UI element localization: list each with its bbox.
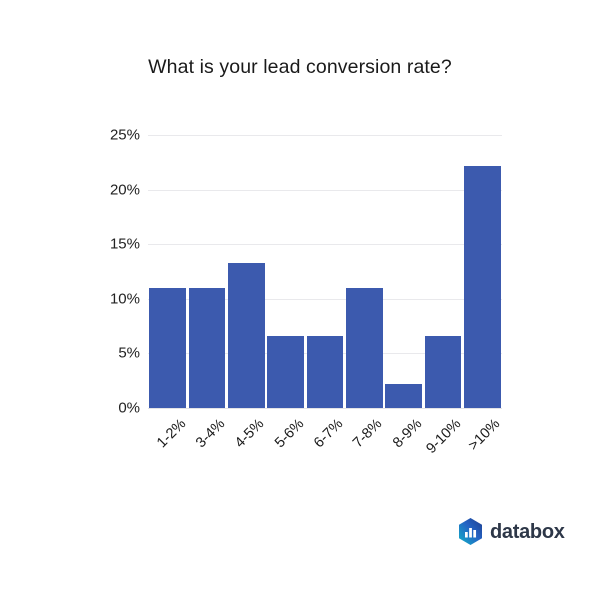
bar[interactable] bbox=[189, 288, 226, 408]
databox-wordmark: databox bbox=[490, 522, 565, 542]
plot-area bbox=[148, 135, 502, 408]
y-axis-tick-label: 15% bbox=[88, 236, 140, 253]
x-axis-tick-label: >10% bbox=[466, 416, 504, 454]
y-axis-tick-label: 20% bbox=[88, 181, 140, 198]
bar[interactable] bbox=[346, 288, 383, 408]
gridline bbox=[148, 408, 502, 409]
y-axis: 0%5%10%15%20%25% bbox=[88, 135, 140, 408]
bar[interactable] bbox=[149, 288, 186, 408]
x-axis-tick-label: 9-10% bbox=[423, 416, 464, 457]
bar-series bbox=[148, 135, 502, 408]
y-axis-tick-label: 25% bbox=[88, 127, 140, 144]
x-axis-tick-label: 5-6% bbox=[272, 416, 307, 451]
chart-container: What is your lead conversion rate? 0%5%1… bbox=[0, 0, 600, 600]
y-axis-tick-label: 10% bbox=[88, 290, 140, 307]
y-axis-tick-label: 5% bbox=[88, 345, 140, 362]
x-axis-tick-label: 7-8% bbox=[350, 416, 385, 451]
x-axis-tick-label: 3-4% bbox=[193, 416, 228, 451]
bar[interactable] bbox=[425, 336, 462, 408]
x-axis-tick-label: 8-9% bbox=[390, 416, 425, 451]
chart-title: What is your lead conversion rate? bbox=[0, 56, 600, 79]
bar[interactable] bbox=[464, 166, 501, 408]
x-axis-tick-label: 6-7% bbox=[311, 416, 346, 451]
x-axis-tick-label: 4-5% bbox=[232, 416, 267, 451]
bar[interactable] bbox=[307, 336, 344, 408]
databox-hexagon-bars-icon bbox=[458, 518, 483, 545]
databox-logo: databox bbox=[458, 518, 565, 545]
bar[interactable] bbox=[228, 263, 265, 408]
y-axis-tick-label: 0% bbox=[88, 400, 140, 417]
bar[interactable] bbox=[385, 384, 422, 408]
bar[interactable] bbox=[267, 336, 304, 408]
x-axis: 1-2%3-4%4-5%5-6%6-7%7-8%8-9%9-10%>10% bbox=[148, 410, 502, 480]
x-axis-tick-label: 1-2% bbox=[154, 416, 189, 451]
